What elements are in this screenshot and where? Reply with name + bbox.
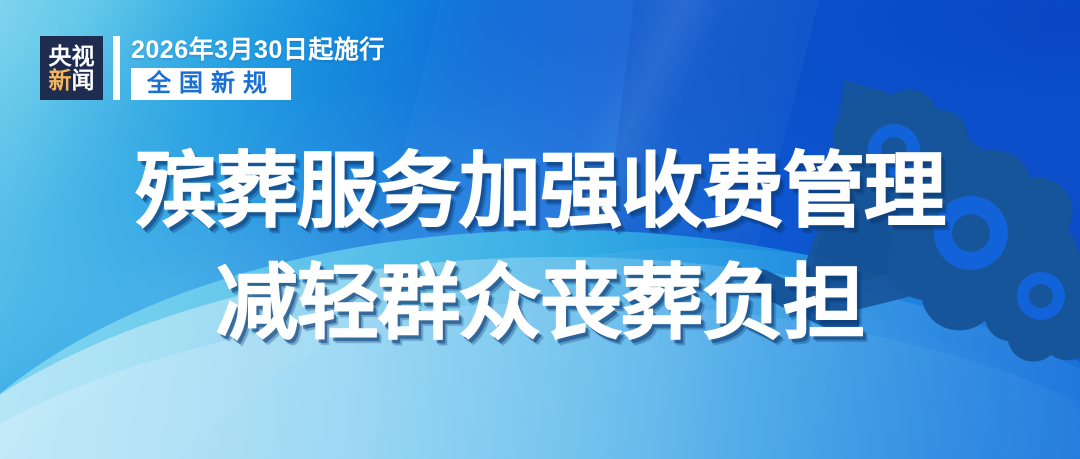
effective-date-line: 2026年3月30日起施行 [131,36,385,64]
logo-char-yang: 央 [49,45,72,68]
header: 央 视 新 闻 2026年3月30日起施行 全国新规 [40,36,385,100]
header-text-group: 2026年3月30日起施行 全国新规 [131,36,385,100]
logo-char-wen: 闻 [72,69,95,92]
logo-line-2: 新 闻 [49,69,95,92]
logo-char-xin: 新 [49,69,72,92]
status-badge-label: 全国新规 [147,72,275,96]
header-divider-bar [113,36,120,100]
cctv-news-logo[interactable]: 央 视 新 闻 [40,36,103,100]
logo-char-shi: 视 [72,45,95,68]
logo-line-1: 央 视 [49,45,95,69]
news-poster: 央 视 新 闻 2026年3月30日起施行 全国新规 殡葬服务加强收费管理 减轻… [0,0,1080,459]
national-new-rules-badge[interactable]: 全国新规 [131,68,291,100]
